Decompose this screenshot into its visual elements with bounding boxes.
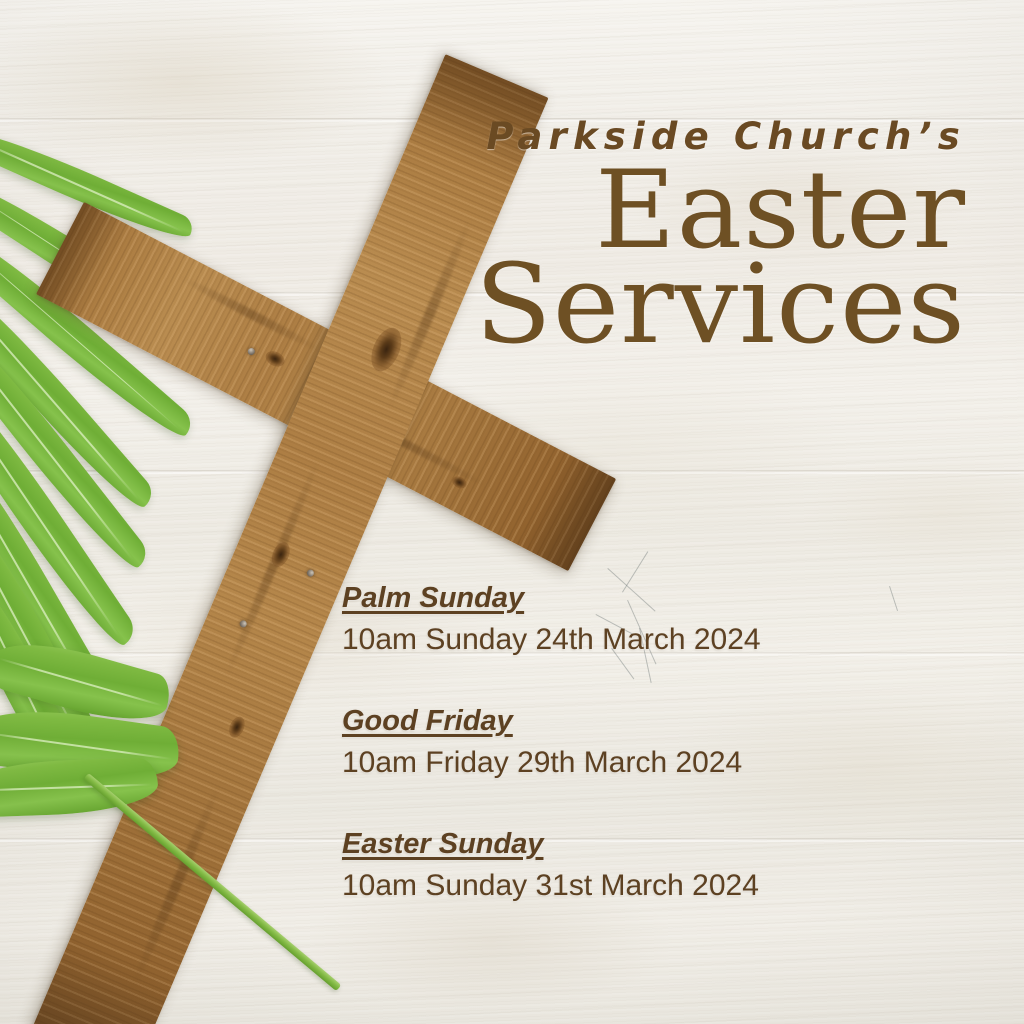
service-datetime: 10am Friday 29th March 2024: [342, 742, 942, 785]
headline-services: Services: [313, 254, 966, 355]
service-schedule-list: Palm Sunday 10am Sunday 24th March 2024 …: [342, 580, 942, 907]
headline-block: Parkside Church’s Easter Services: [326, 118, 966, 356]
service-entry-easter-sunday: Easter Sunday 10am Sunday 31st March 202…: [342, 826, 942, 907]
service-datetime: 10am Sunday 24th March 2024: [342, 619, 942, 662]
service-datetime: 10am Sunday 31st March 2024: [342, 865, 942, 908]
service-name: Palm Sunday: [342, 580, 524, 617]
service-entry-palm-sunday: Palm Sunday 10am Sunday 24th March 2024: [342, 580, 942, 661]
easter-services-poster: Parkside Church’s Easter Services Palm S…: [0, 0, 1024, 1024]
service-entry-good-friday: Good Friday 10am Friday 29th March 2024: [342, 703, 942, 784]
service-name: Easter Sunday: [342, 826, 543, 863]
service-name: Good Friday: [342, 703, 513, 740]
